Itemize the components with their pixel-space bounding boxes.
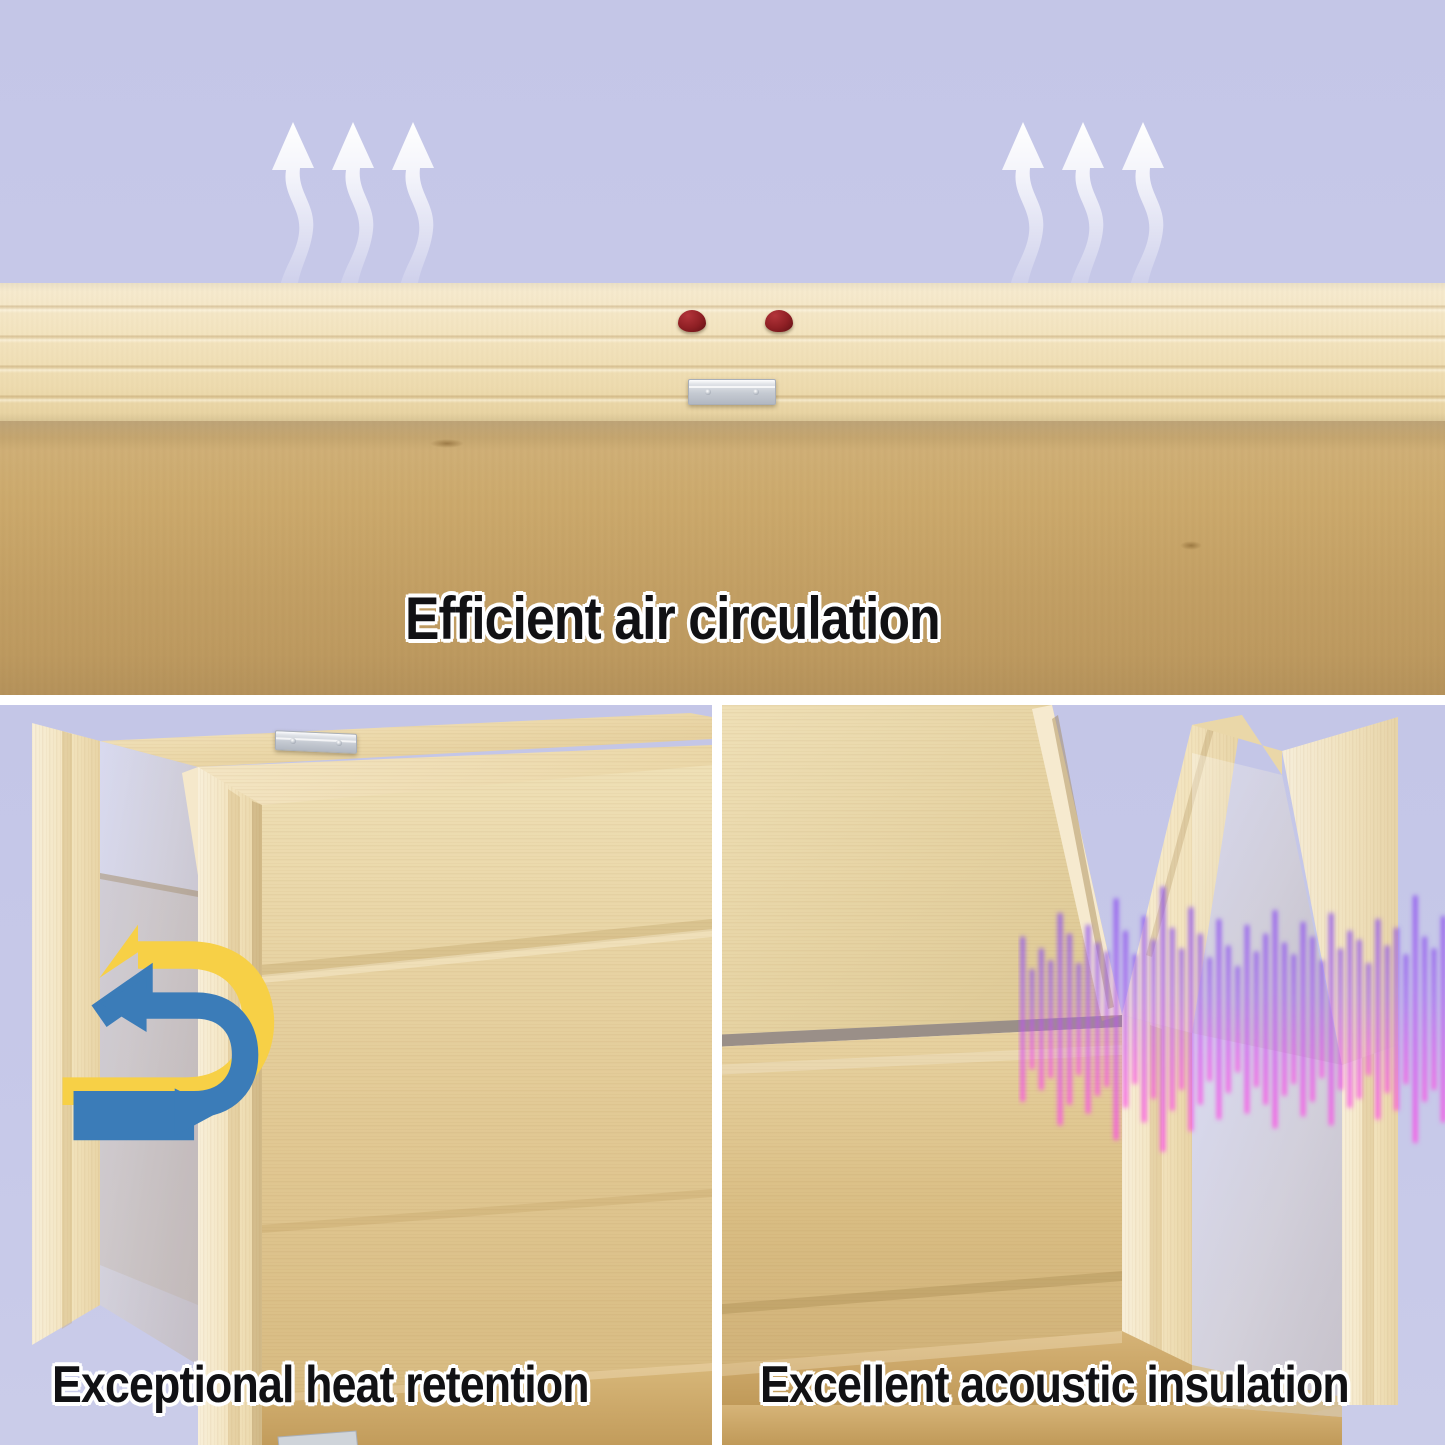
heat-arrows-svg xyxy=(52,918,292,1163)
waveform-bar xyxy=(1423,937,1427,1102)
waveform-bar xyxy=(1329,913,1333,1125)
caption-heat-retention: Exceptional heat retention xyxy=(52,1355,589,1415)
wood-grain-knot xyxy=(430,439,464,448)
waveform-bar xyxy=(1142,916,1146,1122)
waveform-bars-group xyxy=(1021,887,1445,1152)
waveform-bar xyxy=(1236,966,1240,1072)
latch-screw-right xyxy=(336,740,342,746)
waveform-bar xyxy=(1254,951,1258,1086)
latch-screw-left xyxy=(290,738,296,744)
infographic-stage: Efficient air circulation xyxy=(0,0,1445,1445)
waveform-bar xyxy=(1217,919,1221,1119)
waveform-bar xyxy=(1395,928,1399,1111)
waveform-bar xyxy=(1021,937,1025,1102)
latch-highlight xyxy=(276,737,356,742)
waveform-bar xyxy=(1049,960,1053,1078)
waveform-bar xyxy=(1338,949,1342,1090)
rising-air-arrows-icon-left xyxy=(252,108,492,303)
latch-screw-right xyxy=(753,389,759,395)
waveform-bar xyxy=(1151,940,1155,1099)
waveform-bar xyxy=(1058,913,1062,1125)
waveform-bar xyxy=(1310,937,1314,1102)
waveform-bar xyxy=(1086,925,1090,1113)
waveform-bar xyxy=(1273,910,1277,1128)
rubber-bumper-icon-left xyxy=(678,310,706,332)
rubber-bumper-icon-right xyxy=(765,310,793,332)
metal-latch-plate-icon-left-overlay[interactable] xyxy=(275,730,357,754)
rising-air-arrows-icon-right xyxy=(982,108,1222,303)
waveform-bar xyxy=(1301,922,1305,1116)
waveform-bar xyxy=(1077,963,1081,1075)
waveform-bar xyxy=(1208,957,1212,1081)
waveform-bar xyxy=(1404,954,1408,1084)
waveform-bar xyxy=(1030,969,1034,1069)
waveform-bar xyxy=(1357,940,1361,1099)
waveform-bar xyxy=(1161,887,1165,1152)
heat-circulation-uturn-arrows-icon xyxy=(52,918,292,1163)
panel-heat-retention: Exceptional heat retention xyxy=(0,705,712,1445)
waveform-bar xyxy=(1441,916,1445,1122)
waveform-bar xyxy=(1385,946,1389,1093)
waveform-bar xyxy=(1226,946,1230,1093)
latch-highlight xyxy=(689,386,775,388)
waveform-bar xyxy=(1133,954,1137,1084)
panel-air-circulation: Efficient air circulation xyxy=(0,0,1445,695)
airflow-svg-right xyxy=(982,108,1222,303)
waveform-svg xyxy=(1018,858,1445,1168)
waveform-bar xyxy=(1198,934,1202,1105)
waveform-bar xyxy=(1245,925,1249,1113)
page-title: Efficient air circulation xyxy=(405,584,940,653)
waveform-bar xyxy=(1105,951,1109,1086)
waveform-bar xyxy=(1123,931,1127,1108)
airflow-svg-left xyxy=(252,108,492,303)
waveform-bar xyxy=(1067,934,1071,1105)
waveform-bar xyxy=(1413,896,1417,1143)
waveform-bar xyxy=(1320,960,1324,1078)
divider-horizontal xyxy=(0,695,1445,705)
waveform-bar xyxy=(1170,928,1174,1111)
waveform-bar xyxy=(1292,954,1296,1084)
waveform-bar xyxy=(1189,907,1193,1131)
waveform-bar xyxy=(1264,934,1268,1105)
lid-front-face xyxy=(0,421,1445,695)
waveform-bar xyxy=(1376,919,1380,1119)
waveform-bar xyxy=(1095,943,1099,1096)
waveform-bar xyxy=(1366,963,1370,1075)
waveform-bar xyxy=(1348,931,1352,1108)
latch-screw-left xyxy=(705,389,711,395)
waveform-bar xyxy=(1432,949,1436,1090)
waveform-bar xyxy=(1114,898,1118,1139)
wood-grain-knot xyxy=(1180,541,1202,550)
caption-acoustic-insulation: Excellent acoustic insulation xyxy=(760,1355,1349,1415)
waveform-bar xyxy=(1039,949,1043,1090)
waveform-bar xyxy=(1282,943,1286,1096)
panel-acoustic-insulation: Excellent acoustic insulation xyxy=(722,705,1445,1445)
divider-vertical xyxy=(712,695,722,1445)
audio-waveform-icon xyxy=(1018,858,1445,1168)
waveform-bar xyxy=(1180,949,1184,1090)
metal-latch-plate-icon[interactable] xyxy=(688,379,776,405)
